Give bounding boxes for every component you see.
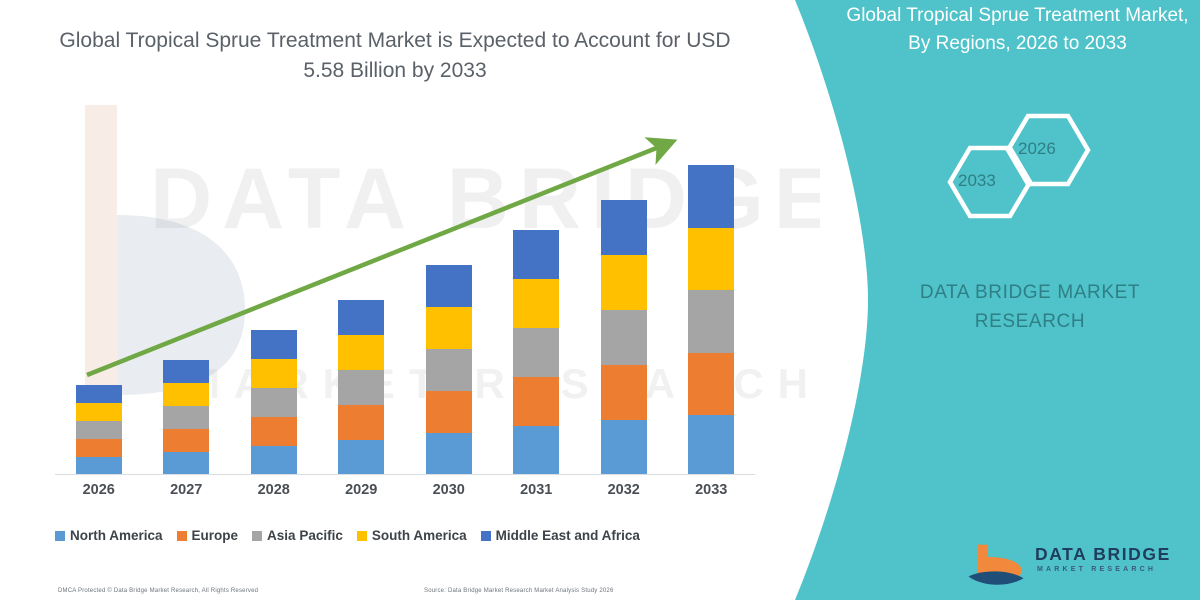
bar-group <box>513 230 559 475</box>
bar-segment <box>76 385 122 403</box>
chart-title: Global Tropical Sprue Treatment Market i… <box>50 26 740 86</box>
x-axis-label: 2033 <box>673 482 749 498</box>
hexagon-group: 2033 2026 <box>920 108 1140 228</box>
bar-segment <box>163 383 209 406</box>
legend-swatch <box>55 531 65 541</box>
legend-item[interactable]: Asia Pacific <box>252 528 343 543</box>
bar-segment <box>76 403 122 421</box>
bar-segment <box>76 439 122 457</box>
bar-segment <box>513 377 559 426</box>
bar-segment <box>513 328 559 377</box>
bar-group <box>251 330 297 475</box>
bar-segment <box>426 391 472 433</box>
x-axis-labels: 20262027202820292030203120322033 <box>55 480 755 504</box>
logo-title: DATA BRIDGE <box>1035 544 1171 565</box>
bar-segment <box>163 406 209 429</box>
bar-segment <box>338 405 384 440</box>
bar-segment <box>251 330 297 359</box>
infographic-canvas: DATA BRIDGE MARKET RESEARCH Global Tropi… <box>0 0 1200 600</box>
bar-segment <box>251 446 297 475</box>
legend-label: South America <box>372 528 467 543</box>
x-axis-label: 2026 <box>61 482 137 498</box>
bar-group <box>688 165 734 475</box>
bar-segment <box>688 353 734 415</box>
bar-segment <box>251 388 297 417</box>
bar-segment <box>601 310 647 365</box>
bar-segment <box>688 415 734 475</box>
legend-item[interactable]: South America <box>357 528 467 543</box>
bar-segment <box>426 433 472 475</box>
bar-segment <box>513 279 559 328</box>
logo-b-mark <box>965 540 1027 590</box>
bar-segment <box>251 359 297 388</box>
legend-label: North America <box>70 528 163 543</box>
bar-segment <box>163 429 209 452</box>
legend-item[interactable]: North America <box>55 528 163 543</box>
bar-segment <box>338 440 384 475</box>
bar-segment <box>76 421 122 439</box>
bar-segment <box>338 370 384 405</box>
x-axis-label: 2028 <box>236 482 312 498</box>
legend-swatch <box>252 531 262 541</box>
bar-segment <box>601 365 647 420</box>
bar-segment <box>688 290 734 353</box>
legend-swatch <box>481 531 491 541</box>
bar-segment <box>688 165 734 228</box>
hexagon-shapes <box>920 108 1140 228</box>
legend-swatch <box>177 531 187 541</box>
bar-segment <box>338 300 384 335</box>
bar-segment <box>426 349 472 391</box>
bar-segment <box>601 255 647 310</box>
hexagon-label-2026: 2026 <box>1018 139 1056 159</box>
bar-group <box>426 265 472 475</box>
footer-copyright: DMCA Protected © Data Bridge Market Rese… <box>58 588 258 594</box>
x-axis-label: 2032 <box>586 482 662 498</box>
bar-group <box>163 360 209 475</box>
chart-plot-area <box>55 130 755 475</box>
chart-legend: North AmericaEuropeAsia PacificSouth Ame… <box>55 528 765 543</box>
bar-segment <box>426 307 472 349</box>
x-axis-label: 2030 <box>411 482 487 498</box>
bar-segment <box>163 452 209 475</box>
logo-subtitle: MARKET RESEARCH <box>1037 566 1156 573</box>
bar-group <box>601 200 647 475</box>
x-axis-label: 2027 <box>148 482 224 498</box>
bar-segment <box>513 426 559 475</box>
panel-title: Global Tropical Sprue Treatment Market, … <box>845 2 1190 58</box>
legend-label: Asia Pacific <box>267 528 343 543</box>
bar-segment <box>601 200 647 255</box>
bar-segment <box>163 360 209 383</box>
legend-label: Middle East and Africa <box>496 528 640 543</box>
bar-group <box>76 385 122 475</box>
footer-source: Source: Data Bridge Market Research Mark… <box>424 588 614 594</box>
bar-segment <box>513 230 559 279</box>
bar-segment <box>601 420 647 475</box>
legend-item[interactable]: Europe <box>177 528 239 543</box>
bar-segment <box>76 457 122 475</box>
x-axis-line <box>55 474 755 475</box>
brand-name: DATA BRIDGE MARKET RESEARCH <box>880 278 1180 336</box>
bar-segment <box>688 228 734 290</box>
legend-swatch <box>357 531 367 541</box>
legend-item[interactable]: Middle East and Africa <box>481 528 640 543</box>
dbmr-logo: DATA BRIDGE MARKET RESEARCH <box>965 540 1190 598</box>
x-axis-label: 2029 <box>323 482 399 498</box>
legend-label: Europe <box>192 528 239 543</box>
bar-segment <box>426 265 472 307</box>
x-axis-label: 2031 <box>498 482 574 498</box>
hexagon-label-2033: 2033 <box>958 171 996 191</box>
bar-segment <box>251 417 297 446</box>
bar-segment <box>338 335 384 370</box>
bar-group <box>338 300 384 475</box>
